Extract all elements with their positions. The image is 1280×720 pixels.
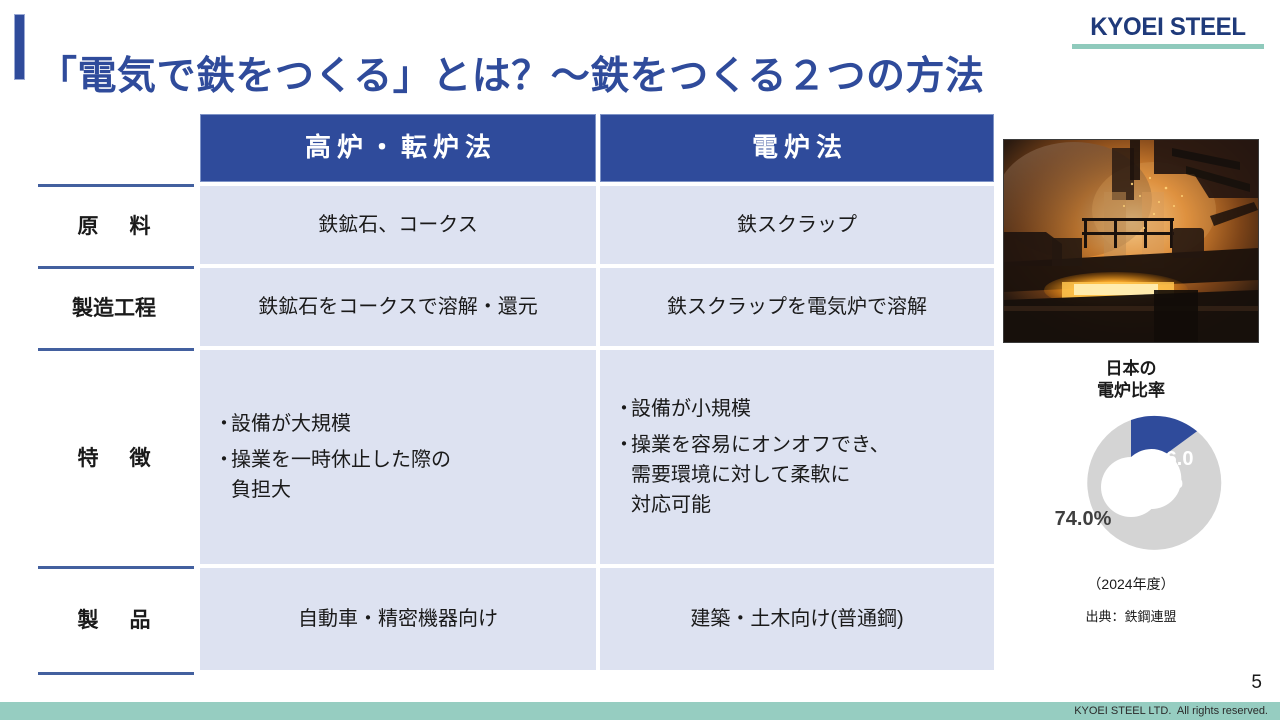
- bullet-icon: ・: [214, 409, 231, 439]
- row-rule: [38, 672, 194, 675]
- page-number: 5: [1251, 672, 1262, 694]
- list-item-label: 設備が小規模: [631, 394, 890, 424]
- table-row: 鉄鉱石をコークスで溶解・還元: [200, 268, 596, 346]
- list-item-label: 操業を一時休止した際の 負担大: [231, 445, 451, 505]
- chart-title: 日本の 電炉比率: [1000, 358, 1262, 402]
- table-row: 自動車・精密機器向け: [200, 568, 596, 670]
- list-item: ・ 操業を容易にオンオフでき、 需要環境に対して柔軟に 対応可能: [614, 430, 890, 520]
- feature-list-electric-furnace: ・ 設備が小規模 ・ 操業を容易にオンオフでき、 需要環境に対して柔軟に 対応可…: [614, 394, 890, 520]
- list-item: ・ 操業を一時休止した際の 負担大: [214, 445, 451, 505]
- row-label-features: 特 徴: [36, 350, 192, 564]
- feature-list-blast-furnace: ・ 設備が大規模 ・ 操業を一時休止した際の 負担大: [214, 409, 451, 505]
- table-row: 鉄スクラップを電気炉で溶解: [600, 268, 994, 346]
- logo-underline: [1072, 44, 1264, 49]
- logo-wordmark: KYOEI STEEL: [1076, 12, 1260, 42]
- table-row: 建築・土木向け(普通鋼): [600, 568, 994, 670]
- kyoei-steel-logo: KYOEI STEEL: [1072, 12, 1264, 54]
- page-title: 「電気で鉄をつくる」とは？〜鉄をつくる２つの方法: [38, 40, 1048, 106]
- table-header-blast-furnace: 高炉・転炉法: [200, 114, 596, 182]
- table-row: 鉄スクラップ: [600, 186, 994, 264]
- table-header-electric-furnace: 電炉法: [600, 114, 994, 182]
- row-label-raw-material: 原 料: [36, 186, 192, 264]
- donut-label-denro: 26.0 %: [1141, 448, 1207, 494]
- list-item: ・ 設備が小規模: [614, 394, 890, 424]
- footer-copyright: KYOEI STEEL LTD. All rights reserved.: [1074, 703, 1268, 719]
- list-item: ・ 設備が大規模: [214, 409, 451, 439]
- table-row: ・ 設備が大規模 ・ 操業を一時休止した際の 負担大: [200, 350, 596, 564]
- bullet-icon: ・: [214, 445, 231, 505]
- bullet-icon: ・: [614, 430, 631, 520]
- donut-chart: 26.0 % 74.0%: [1000, 412, 1262, 562]
- title-accent-bar: [14, 14, 25, 80]
- chart-subtitle: （2024年度）: [1000, 574, 1262, 594]
- row-label-product: 製 品: [36, 568, 192, 670]
- bullet-icon: ・: [614, 394, 631, 424]
- table-row: ・ 設備が小規模 ・ 操業を容易にオンオフでき、 需要環境に対して柔軟に 対応可…: [600, 350, 994, 564]
- list-item-label: 操業を容易にオンオフでき、 需要環境に対して柔軟に 対応可能: [631, 430, 890, 520]
- row-label-process: 製造工程: [36, 268, 192, 346]
- table-row: 鉄鉱石、コークス: [200, 186, 596, 264]
- footer-bar: KYOEI STEEL LTD. All rights reserved.: [0, 702, 1280, 720]
- chart-source: 出典：鉄鋼連盟: [1000, 606, 1262, 625]
- denro-ratio-chart: 日本の 電炉比率 26.0 % 74.0% （2024年度） 出典：鉄鋼連盟: [1000, 358, 1262, 670]
- list-item-label: 設備が大規模: [231, 409, 451, 439]
- electric-furnace-photo: [1003, 139, 1259, 343]
- donut-label-koro: 74.0%: [1036, 508, 1130, 531]
